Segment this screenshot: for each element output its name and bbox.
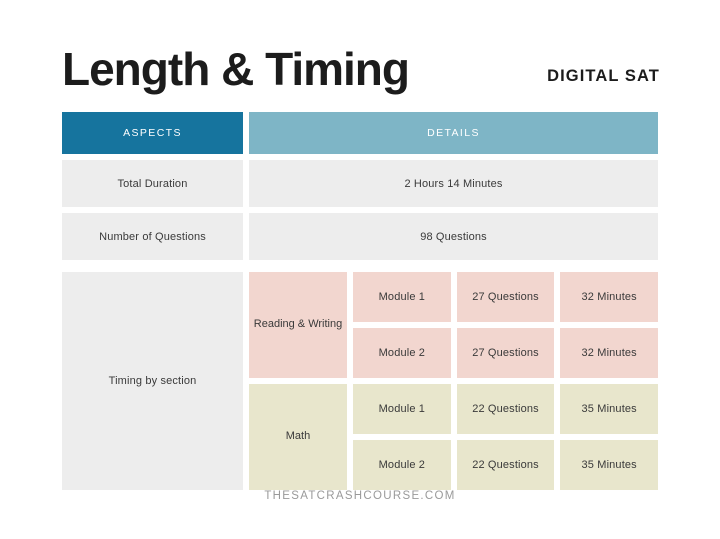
page-subtitle: DIGITAL SAT bbox=[547, 67, 660, 92]
row-detail-cell: 98 Questions bbox=[249, 213, 658, 260]
section-name-label: Math bbox=[249, 384, 347, 490]
table-header-row: ASPECTS DETAILS bbox=[62, 112, 658, 154]
module-time: 32 Minutes bbox=[560, 328, 658, 378]
module-time: 32 Minutes bbox=[560, 272, 658, 322]
module-label: Module 1 bbox=[353, 272, 451, 322]
header: Length & Timing DIGITAL SAT bbox=[62, 26, 660, 92]
module-row: Module 2 22 Questions 35 Minutes bbox=[353, 440, 658, 490]
aspects-header-label: ASPECTS bbox=[123, 127, 182, 139]
module-row: Module 2 27 Questions 32 Minutes bbox=[353, 328, 658, 378]
timing-aspect-cell: Timing by section bbox=[62, 272, 243, 490]
module-label: Module 2 bbox=[353, 328, 451, 378]
column-header-aspects: ASPECTS bbox=[62, 112, 243, 154]
row-aspect-cell: Total Duration bbox=[62, 160, 243, 207]
module-grid: Module 1 22 Questions 35 Minutes Module … bbox=[353, 384, 658, 490]
module-time: 35 Minutes bbox=[560, 440, 658, 490]
aspect-label: Number of Questions bbox=[99, 231, 206, 243]
module-row: Module 1 27 Questions 32 Minutes bbox=[353, 272, 658, 322]
infographic-canvas: Length & Timing DIGITAL SAT ASPECTS DETA… bbox=[0, 0, 720, 539]
column-header-details: DETAILS bbox=[249, 112, 658, 154]
module-label: Module 2 bbox=[353, 440, 451, 490]
module-grid: Module 1 27 Questions 32 Minutes Module … bbox=[353, 272, 658, 378]
module-questions: 27 Questions bbox=[457, 272, 555, 322]
timing-by-section-row: Timing by section Reading & Writing Modu… bbox=[62, 272, 658, 490]
timing-sections-container: Reading & Writing Module 1 27 Questions … bbox=[249, 272, 658, 490]
module-label: Module 1 bbox=[353, 384, 451, 434]
aspect-label: Total Duration bbox=[118, 178, 188, 190]
details-header-label: DETAILS bbox=[427, 127, 480, 139]
row-detail-cell: 2 Hours 14 Minutes bbox=[249, 160, 658, 207]
section-reading-writing: Reading & Writing Module 1 27 Questions … bbox=[249, 272, 658, 378]
module-row: Module 1 22 Questions 35 Minutes bbox=[353, 384, 658, 434]
module-time: 35 Minutes bbox=[560, 384, 658, 434]
page-title: Length & Timing bbox=[62, 46, 409, 92]
table-row: Number of Questions 98 Questions bbox=[62, 213, 658, 260]
length-timing-table: ASPECTS DETAILS Total Duration 2 Hours 1… bbox=[62, 112, 658, 490]
footer: THESATCRASHCOURSE.COM bbox=[0, 486, 720, 504]
section-name-label: Reading & Writing bbox=[249, 272, 347, 378]
module-questions: 27 Questions bbox=[457, 328, 555, 378]
module-questions: 22 Questions bbox=[457, 384, 555, 434]
detail-value: 2 Hours 14 Minutes bbox=[404, 178, 502, 190]
footer-website: THESATCRASHCOURSE.COM bbox=[264, 490, 455, 502]
table-row: Total Duration 2 Hours 14 Minutes bbox=[62, 160, 658, 207]
module-questions: 22 Questions bbox=[457, 440, 555, 490]
detail-value: 98 Questions bbox=[420, 231, 487, 243]
row-aspect-cell: Number of Questions bbox=[62, 213, 243, 260]
aspect-label: Timing by section bbox=[109, 375, 197, 387]
section-math: Math Module 1 22 Questions 35 Minutes Mo… bbox=[249, 384, 658, 490]
